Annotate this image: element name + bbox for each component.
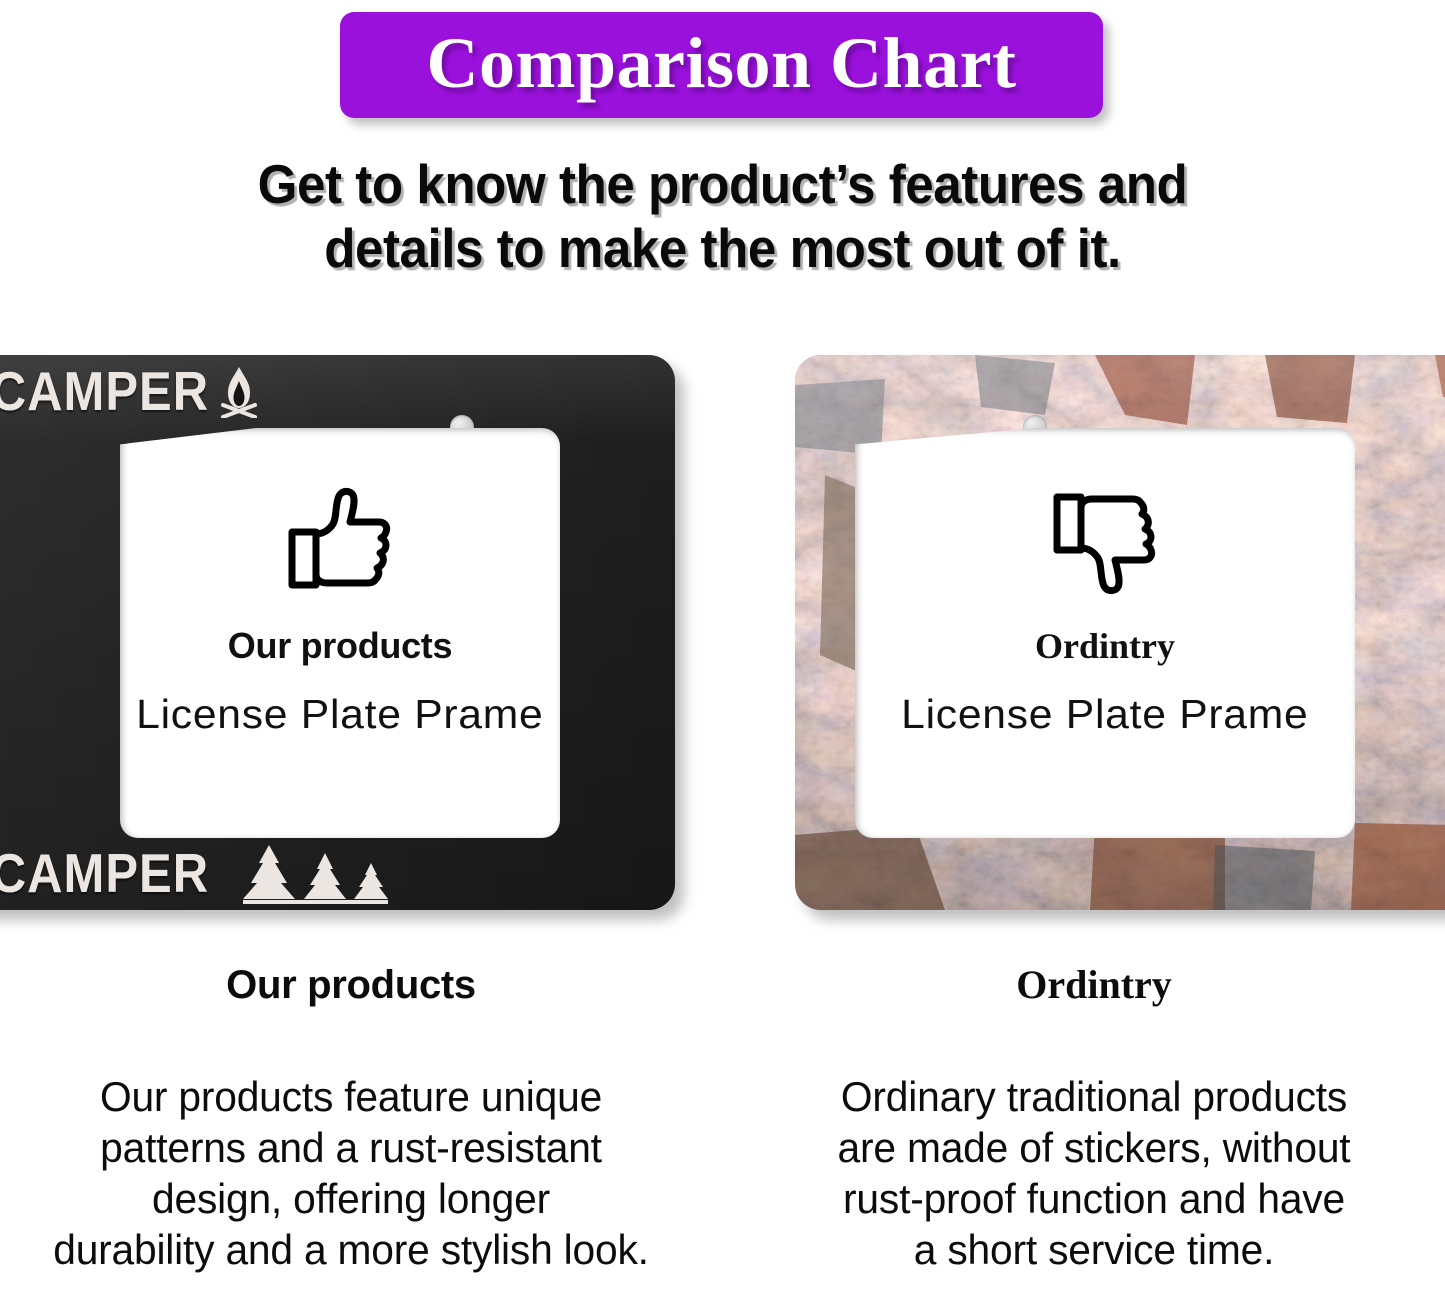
right-description-column: Ordintry Ordinary traditional products a…	[733, 965, 1445, 1275]
header-area: Comparison Chart Get to know the product…	[0, 0, 1445, 330]
camper-bar-top-label: PPY CAMPER	[0, 360, 209, 423]
left-window-subtitle: License Plate Prame	[136, 694, 543, 735]
subtitle-line-1: Get to know the product’s features and	[51, 152, 1395, 216]
camper-bar-bottom: PPY CAMPER	[0, 837, 675, 910]
camper-bar-top: PPY CAMPER	[0, 355, 675, 428]
subtitle: Get to know the product’s features and d…	[51, 152, 1395, 280]
left-description-heading: Our products	[0, 965, 712, 1005]
left-description-line: durability and a more stylish look.	[1, 1224, 701, 1275]
thumbs-up-icon	[287, 486, 394, 596]
left-description-line: patterns and a rust-resistant	[1, 1122, 701, 1173]
right-description-body: Ordinary traditional products are made o…	[744, 1071, 1444, 1275]
thumbs-down-icon	[1052, 486, 1159, 596]
left-description-column: Our products Our products feature unique…	[0, 965, 712, 1275]
title-banner: Comparison Chart	[340, 12, 1103, 118]
left-description-line: Our products feature unique	[1, 1071, 701, 1122]
left-product-frame: PPY CAMPER PPY CAMPER	[0, 355, 675, 910]
comparison-description-row: Our products Our products feature unique…	[0, 965, 1445, 1314]
right-plate-window: Ordintry License Plate Prame	[855, 428, 1355, 838]
left-plate-window: Our products License Plate Prame	[120, 428, 560, 838]
right-window-content: Ordintry License Plate Prame	[855, 428, 1355, 838]
campfire-flame-icon	[219, 366, 259, 418]
right-product-frame: Ordintry License Plate Prame	[795, 355, 1445, 910]
camper-bar-bottom-label: PPY CAMPER	[0, 842, 209, 905]
right-window-heading: Ordintry	[1035, 628, 1175, 664]
left-description-body: Our products feature unique patterns and…	[1, 1071, 701, 1275]
pine-trees-icon	[225, 843, 393, 905]
page-title: Comparison Chart	[340, 12, 1103, 118]
right-description-line: a short service time.	[744, 1224, 1444, 1275]
right-description-line: rust-proof function and have	[744, 1173, 1444, 1224]
subtitle-line-2: details to make the most out of it.	[51, 216, 1395, 280]
left-window-content: Our products License Plate Prame	[120, 428, 560, 838]
left-window-heading: Our products	[228, 628, 452, 664]
right-description-line: Ordinary traditional products	[744, 1071, 1444, 1122]
right-description-line: are made of stickers, without	[744, 1122, 1444, 1173]
left-description-line: design, offering longer	[1, 1173, 701, 1224]
right-window-subtitle: License Plate Prame	[901, 694, 1308, 735]
right-description-heading: Ordintry	[733, 965, 1445, 1005]
comparison-frames-row: PPY CAMPER PPY CAMPER	[0, 355, 1445, 920]
